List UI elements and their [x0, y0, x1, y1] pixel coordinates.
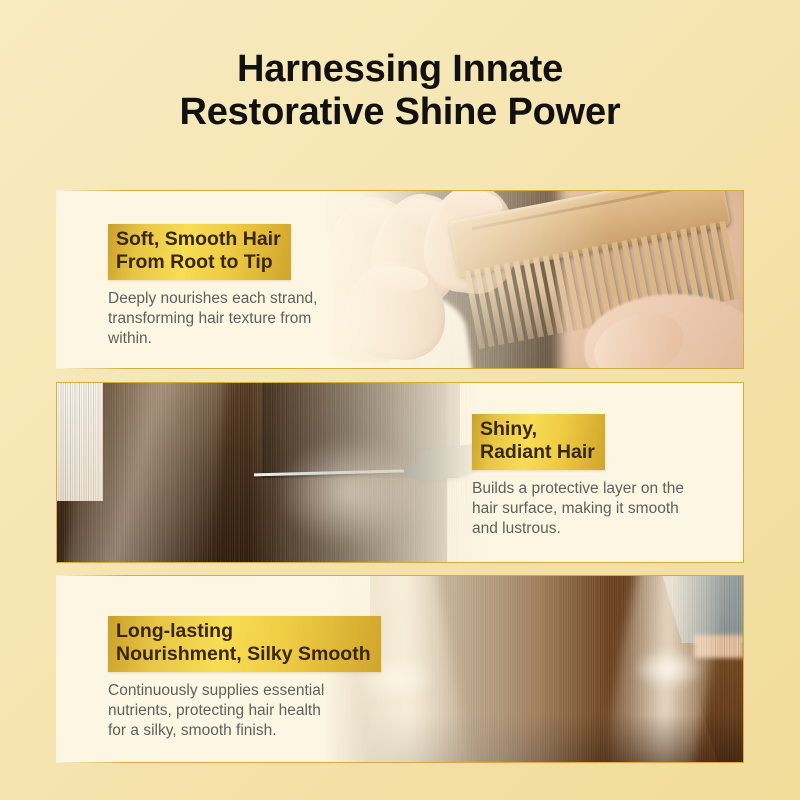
- page-title-line-1: Harnessing Innate: [0, 48, 800, 91]
- feature-panel-long-lasting-nourishment: Long-lasting Nourishment, Silky Smooth C…: [56, 575, 744, 763]
- panel-3-border: [56, 575, 744, 763]
- feature-panel-shiny-radiant-hair: Shiny, Radiant Hair Builds a protective …: [56, 382, 744, 563]
- page-title: Harnessing Innate Restorative Shine Powe…: [0, 48, 800, 134]
- page-title-line-2: Restorative Shine Power: [0, 91, 800, 134]
- panel-2-border: [56, 382, 744, 563]
- feature-panel-soft-smooth-hair: Soft, Smooth Hair From Root to Tip Deepl…: [56, 190, 744, 369]
- panel-1-border: [56, 190, 744, 369]
